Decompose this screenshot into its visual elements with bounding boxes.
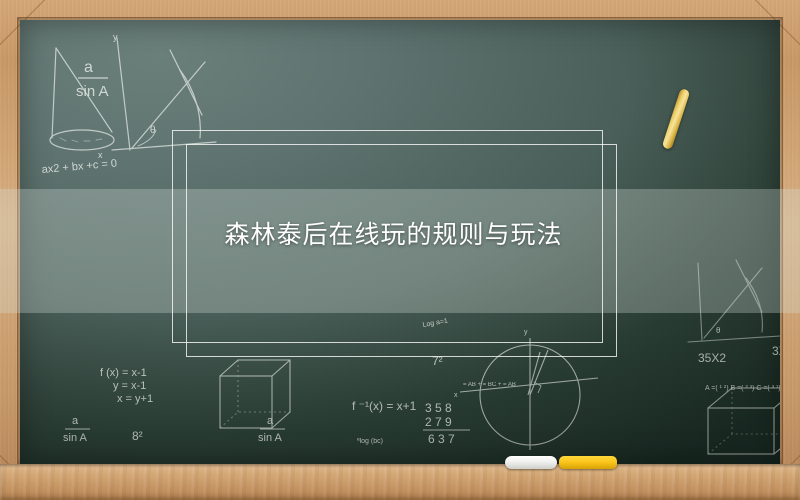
white-chalk-icon [505,456,557,469]
page-title: 森林泰后在线玩的规则与玩法 [186,215,601,251]
yellow-chalk-ledge-icon [559,456,617,469]
ledge-lip [0,464,800,468]
frame-ledge [0,464,800,500]
screenshot-root: a sin A y x θ ax2 + bx +c = 0 θ f (x) = … [0,0,800,500]
